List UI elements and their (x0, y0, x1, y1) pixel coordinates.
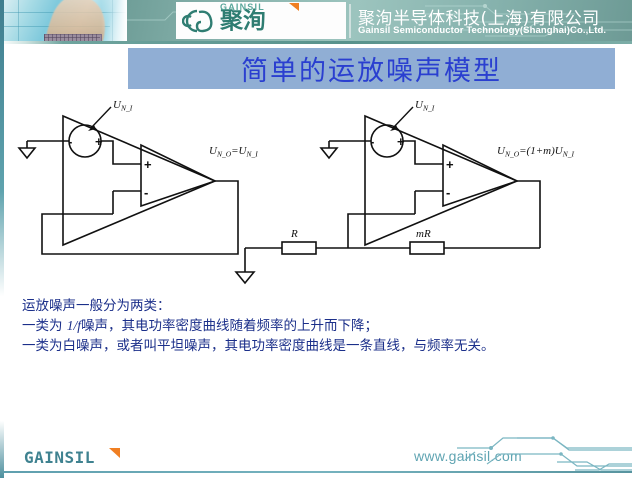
footer-circuit-traces (457, 434, 632, 472)
right-circuit-group: - + + - mR UN_O=(1+m)UN_I (321, 99, 574, 254)
logo-english-text: GAINSIL (220, 2, 265, 12)
right-feedback-down (348, 214, 415, 248)
right-output-down (517, 181, 540, 248)
left-opamp-minus: - (144, 185, 148, 200)
footer-logo-text: GAINSIL (24, 448, 95, 467)
body-line-3: 一类为白噪声，或者叫平坦噪声，其电功率密度曲线是一条直线，与频率无关。 (22, 336, 622, 356)
right-outer-triangle (365, 116, 517, 245)
left-border-strip (0, 0, 4, 478)
body-line-2-formula: 1/f (67, 318, 81, 333)
resistor-r-body (282, 242, 316, 254)
company-en-brand: Gainsil (358, 25, 390, 36)
right-noise-label: UN_I (415, 99, 435, 113)
right-noise-leader-line (393, 107, 413, 128)
left-noise-label: UN_I (113, 99, 133, 113)
right-opamp-minus: - (446, 185, 450, 200)
slide-canvas: 聚洵 GAINSIL 聚洵半导体科技(上海)有限公司 Gainsil Semic… (0, 0, 632, 478)
left-feedback-loop (42, 181, 238, 254)
page-title: 简单的运放噪声模型 (128, 48, 615, 89)
chip-photo-fade (101, 0, 127, 44)
slide-header: 聚洵 GAINSIL 聚洵半导体科技(上海)有限公司 Gainsil Semic… (0, 0, 632, 44)
company-en-rest: Semiconductor Technology(Shanghai)Co.,Lt… (390, 25, 606, 36)
left-output-label: UN_O=UN_I (209, 145, 258, 159)
left-noise-leader-line (91, 107, 111, 128)
resistor-mr-label: mR (416, 228, 431, 240)
decorative-chip-photo (0, 0, 127, 44)
body-line-2-a: 一类为 (22, 318, 67, 334)
company-name-english: Gainsil Semiconductor Technology(Shangha… (358, 25, 606, 36)
resistor-mr-body (410, 242, 444, 254)
right-output-label: UN_O=(1+m)UN_I (497, 145, 574, 159)
header-bottom-rule (0, 41, 632, 44)
input-resistor-group: R (236, 228, 348, 283)
left-circuit-group: - + + - UN_O=UN_I UN_I (19, 99, 258, 254)
left-outer-triangle (63, 116, 215, 245)
body-line-2-c: 噪声，其电功率密度曲线随着频率的上升而下降； (81, 318, 378, 334)
footer-logo: GAINSIL (24, 447, 134, 467)
r-ground-symbol (236, 272, 254, 283)
resistor-r-label: R (290, 228, 298, 240)
left-ground-symbol (19, 148, 35, 158)
left-plus-input-wire (101, 141, 141, 164)
right-opamp-plus: + (446, 157, 454, 172)
footer-logo-accent-icon (109, 448, 120, 458)
circuit-diagram: .w{stroke:#111;stroke-width:1.6;fill:non… (0, 96, 632, 296)
header-divider (349, 4, 351, 38)
gainsil-mark-icon (182, 7, 216, 35)
right-ground-symbol (321, 148, 337, 158)
body-line-2: 一类为 1/f噪声，其电功率密度曲线随着频率的上升而下降； (22, 316, 622, 336)
right-plus-input-wire (403, 141, 443, 164)
body-paragraph: 运放噪声一般分为两类： 一类为 1/f噪声，其电功率密度曲线随着频率的上升而下降… (22, 296, 622, 356)
body-line-1: 运放噪声一般分为两类： (22, 296, 622, 316)
left-opamp-plus: + (144, 157, 152, 172)
